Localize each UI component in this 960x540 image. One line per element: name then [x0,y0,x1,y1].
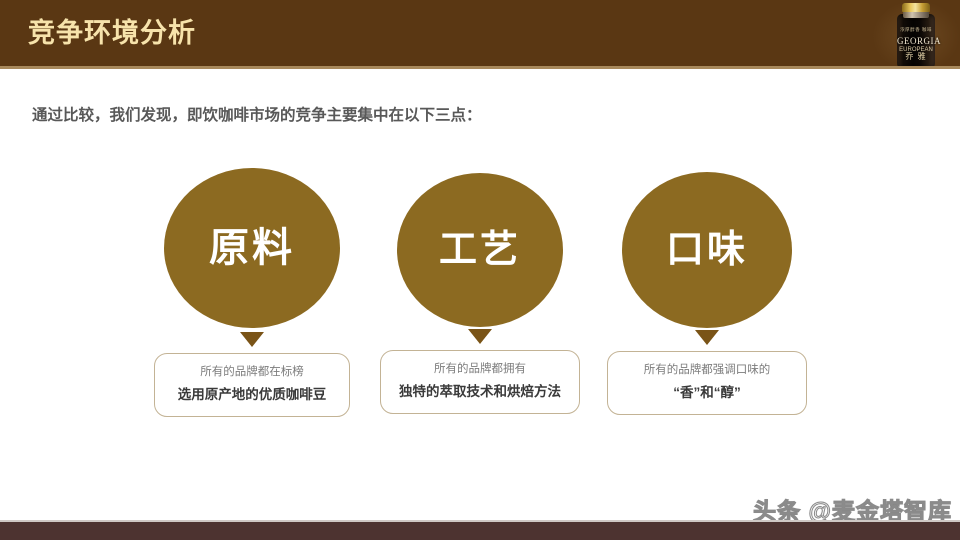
pillar-raw-material: 原料 所有的品牌都在标榜 选用原产地的优质咖啡豆 [137,168,367,417]
circle-raw-material: 原料 [164,168,340,328]
callout-process: 所有的品牌都拥有 独特的萃取技术和烘焙方法 [380,350,580,414]
callout-top-text: 所有的品牌都在标榜 [161,363,343,381]
circle-label-process: 工艺 [439,227,521,273]
circle-taste: 口味 [622,172,792,328]
circle-process: 工艺 [397,173,563,327]
slide-footer-bar [0,522,960,540]
down-arrow-icon [240,332,264,347]
callout-top-text: 所有的品牌都强调口味的 [614,361,800,379]
down-arrow-icon [468,329,492,344]
slide-canvas: 竞争环境分析 浓厚醇香 咖啡 GEORGIA EUROPEAN 乔 雅 通过比较… [0,0,960,540]
callout-raw-material: 所有的品牌都在标榜 选用原产地的优质咖啡豆 [154,353,350,417]
callout-main-text: 独特的萃取技术和烘焙方法 [387,382,573,402]
circle-label-taste: 口味 [666,227,748,273]
callout-top-text: 所有的品牌都拥有 [387,360,573,378]
down-arrow-icon [695,330,719,345]
callout-main-text: “香”和“醇” [614,383,800,403]
callout-taste: 所有的品牌都强调口味的 “香”和“醇” [607,351,807,415]
pillars-group: 原料 所有的品牌都在标榜 选用原产地的优质咖啡豆 工艺 所有的品牌都拥有 独特的… [0,0,960,540]
pillar-process: 工艺 所有的品牌都拥有 独特的萃取技术和烘焙方法 [365,168,595,414]
callout-main-text: 选用原产地的优质咖啡豆 [161,385,343,405]
circle-label-raw-material: 原料 [209,225,295,271]
pillar-taste: 口味 所有的品牌都强调口味的 “香”和“醇” [592,168,822,415]
